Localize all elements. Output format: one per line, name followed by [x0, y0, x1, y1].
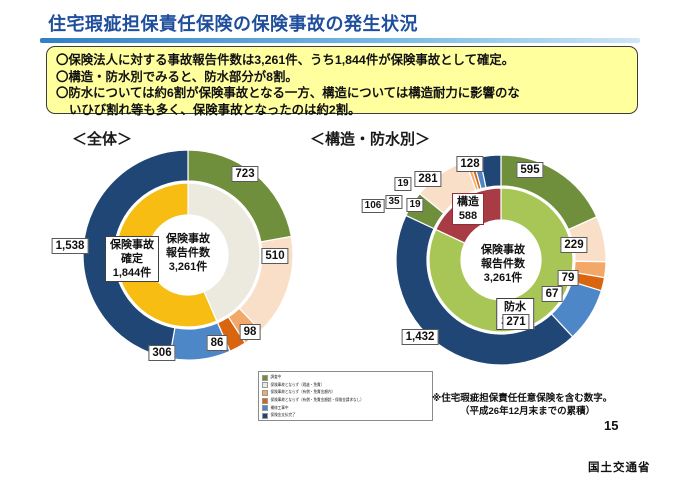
legend-swatch-0: [262, 375, 268, 381]
sw-center-label: 保険事故 報告件数 3,261件: [481, 243, 525, 285]
ministry-name: 国土交通省: [588, 459, 651, 475]
legend-item: 保険事故とならず（有償・免責金額超・保険金請求なし）: [262, 397, 429, 405]
overall-value-1538: 1,538: [52, 238, 89, 254]
sw-value-595: 595: [516, 162, 543, 178]
legend-label-1: 保険事故とならず（瑕疵・免責）: [271, 383, 325, 389]
slide-title-bar: 住宅瑕疵担保責任保険の保険事故の発生状況: [0, 4, 680, 40]
callout-line-1: 〇保険法人に対する事故報告件数は3,261件、うち1,844件が保険事故として確…: [56, 52, 629, 69]
chart-legend: 調査中 保険事故とならず（瑕疵・免責） 保険事故とならず（有償・免責金額内） 保…: [258, 371, 433, 421]
legend-item: 補修工事中: [262, 404, 429, 412]
sw-value-128: 128: [456, 156, 483, 172]
legend-label-4: 補修工事中: [271, 405, 289, 411]
overall-value-510: 510: [261, 248, 288, 264]
callout-line-4: いひび割れ等も多く、保険事故となったのは約2割。: [56, 102, 629, 119]
page-number: 15: [604, 418, 618, 433]
callout-line-2: 〇構造・防水別でみると、防水部分が8割。: [56, 69, 629, 86]
sw-structure-label: 構造 588: [452, 193, 484, 225]
legend-item: 保険金支払完了: [262, 412, 429, 420]
legend-label-3: 保険事故とならず（有償・免責金額超・保険金請求なし）: [271, 398, 364, 404]
summary-callout-box: 〇保険法人に対する事故報告件数は3,261件、うち1,844件が保険事故として確…: [46, 46, 638, 114]
overall-value-306: 306: [148, 345, 175, 361]
legend-label-2: 保険事故とならず（有償・免責金額内）: [271, 390, 336, 396]
sw-value-106: 106: [362, 199, 385, 213]
sw-value-271: 271: [502, 314, 529, 330]
sw-value-19-a: 19: [394, 177, 411, 191]
legend-label-0: 調査中: [271, 375, 282, 381]
title-underline-rule: [40, 38, 640, 43]
legend-swatch-5: [262, 413, 268, 419]
legend-swatch-3: [262, 398, 268, 404]
callout-line-3: 〇防水については約6割が保険事故となる一方、構造については構造耐力に影響のな: [56, 85, 629, 102]
overall-center-label: 保険事故 報告件数 3,261件: [166, 232, 210, 274]
overall-confirmed-label: 保険事故 確定 1,844件: [105, 236, 159, 282]
sw-value-1432: 1,432: [402, 329, 439, 345]
legend-swatch-4: [262, 405, 268, 411]
overall-donut-chart: 保険事故 報告件数 3,261件 保険事故 確定 1,844件 723 510 …: [48, 142, 328, 372]
sw-value-67: 67: [542, 286, 563, 302]
sw-value-229: 229: [560, 237, 587, 253]
sw-value-35: 35: [385, 195, 402, 209]
overall-value-98: 98: [240, 324, 261, 340]
sw-value-19-b: 19: [406, 198, 423, 212]
legend-item: 調査中: [262, 374, 429, 382]
sw-value-79: 79: [558, 270, 579, 286]
overall-value-723: 723: [231, 166, 258, 182]
legend-item: 保険事故とならず（瑕疵・免責）: [262, 382, 429, 390]
footnote: ※住宅瑕疵担保責任任意保険を含む数字。 （平成26年12月末までの累積）: [432, 392, 668, 418]
legend-swatch-1: [262, 382, 268, 388]
legend-swatch-2: [262, 390, 268, 396]
footnote-line-1: ※住宅瑕疵担保責任任意保険を含む数字。: [432, 393, 612, 404]
legend-item: 保険事故とならず（有償・免責金額内）: [262, 389, 429, 397]
page-title: 住宅瑕疵担保責任保険の保険事故の発生状況: [48, 10, 418, 36]
structure-waterproof-donut-chart: 保険事故 報告件数 3,261件 構造 588 防水 2,673 595 229…: [368, 142, 648, 372]
sw-value-281: 281: [414, 171, 441, 187]
legend-label-5: 保険金支払完了: [271, 413, 296, 419]
footnote-line-2: （平成26年12月末までの累積）: [432, 405, 668, 418]
overall-value-86: 86: [207, 335, 228, 351]
